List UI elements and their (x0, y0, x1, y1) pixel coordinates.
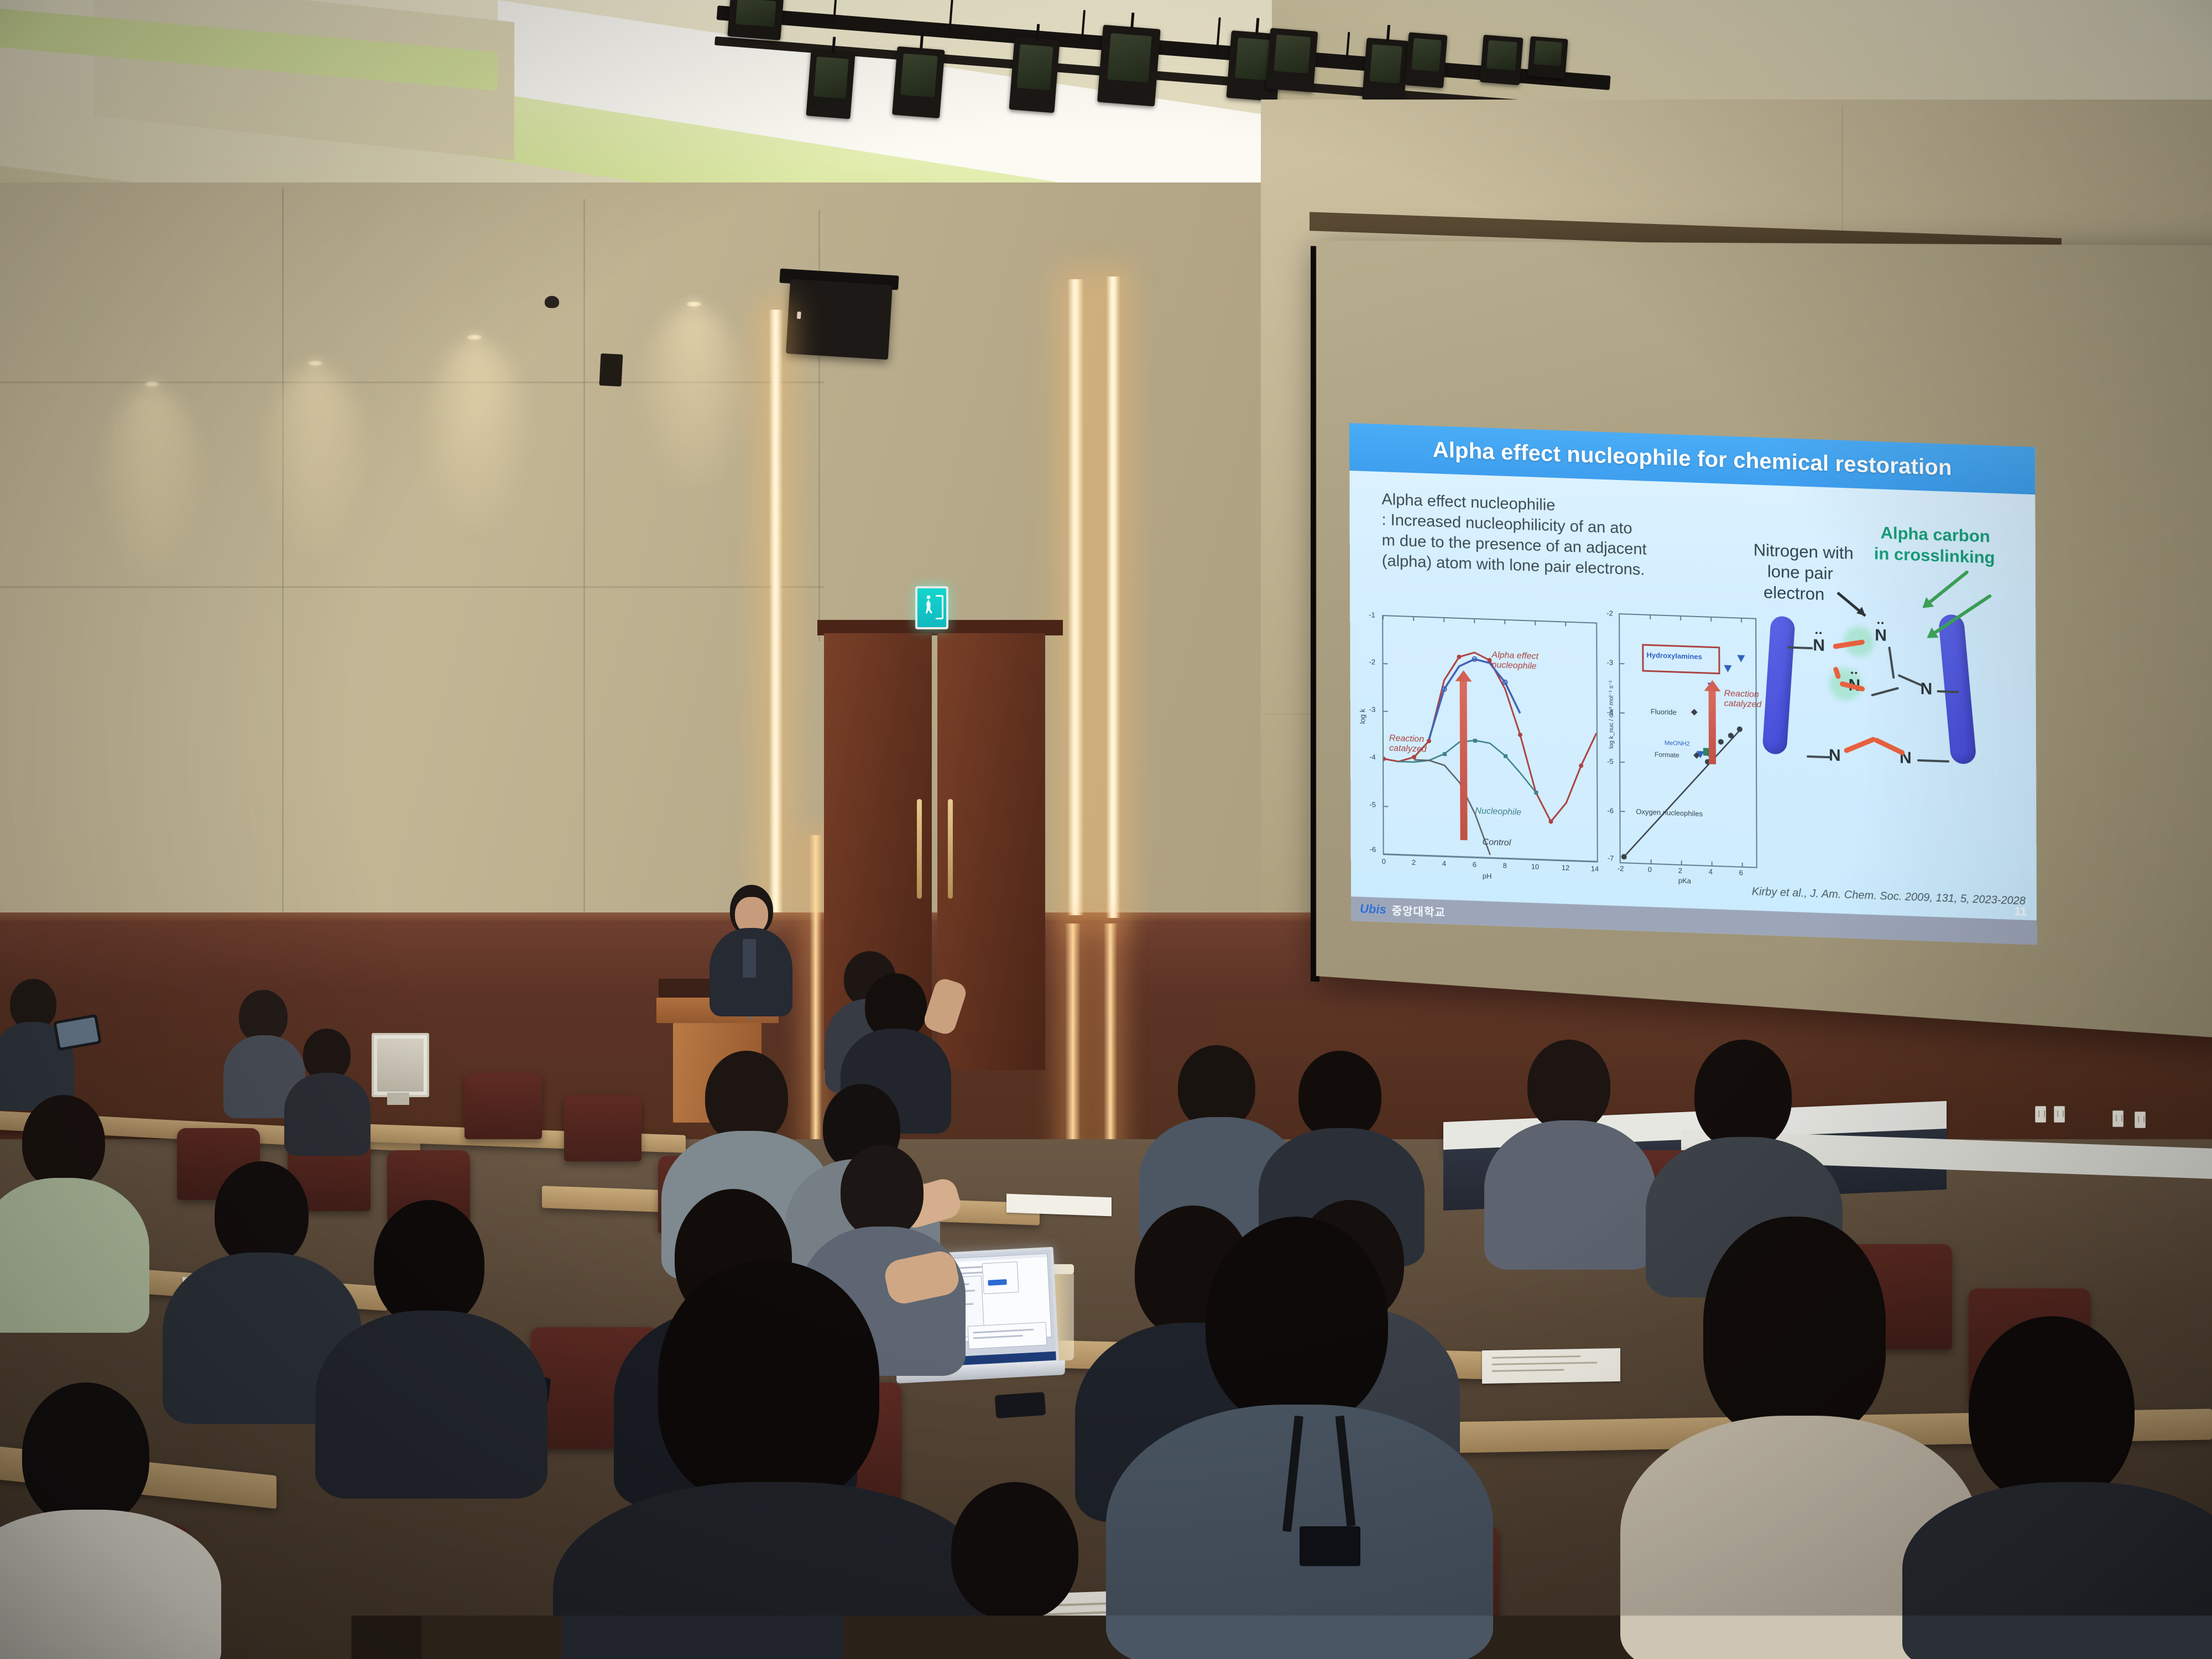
security-camera-icon (545, 296, 559, 308)
power-outlet[interactable] (2054, 1106, 2065, 1123)
university-logo: Ubis 중앙대학교 (1360, 901, 1446, 920)
stage-light-9 (1405, 32, 1447, 88)
chart2-ylabel: log k_nuc / dm³ mol⁻¹ s⁻¹ (1608, 680, 1615, 749)
chart1-annotation-alpha: Alpha effect nucleophile (1491, 650, 1558, 672)
chart2-ytick-0: -2 (1606, 609, 1613, 617)
logo-text: 중앙대학교 (1392, 902, 1446, 920)
attendee (1648, 1217, 1936, 1659)
attendee (0, 1383, 199, 1659)
attendee (1139, 1217, 1449, 1659)
attendee (1924, 1316, 2212, 1659)
chart2-annotation-meonh2: MeONH2 (1665, 740, 1690, 748)
chart1-xlabel: pH (1483, 872, 1492, 880)
chart1-ytick-4: -5 (1369, 800, 1376, 808)
attendee (337, 1200, 520, 1488)
chart2-xtick-4: 6 (1739, 869, 1743, 877)
attendee (907, 1482, 1117, 1659)
chair (564, 1095, 641, 1161)
chart1-xtick-3: 6 (1473, 860, 1477, 869)
chart1-ytick-1: -2 (1369, 658, 1375, 666)
atom-N-1: N (1813, 636, 1825, 655)
smartphone[interactable] (995, 1392, 1046, 1418)
power-outlet[interactable] (2035, 1106, 2046, 1123)
chart2-xtick-1: 0 (1648, 865, 1652, 874)
stage-light-2 (806, 49, 855, 119)
attendee (0, 1095, 133, 1327)
chart1-ytick-5: -6 (1370, 845, 1376, 853)
power-outlet[interactable] (2135, 1112, 2146, 1128)
slide-page-number: 11 (2015, 905, 2027, 919)
chart1-reaction-arrow (1460, 680, 1468, 840)
chart1-ytick-0: -1 (1369, 611, 1375, 619)
wall-panel-seam (583, 199, 585, 918)
attendee (288, 1029, 365, 1150)
attendee (0, 979, 66, 1112)
power-outlet[interactable] (2112, 1110, 2124, 1127)
chart2-xtick-0: -2 (1618, 864, 1624, 873)
atom-N-4: N (1920, 680, 1932, 699)
presentation-slide: Alpha effect nucleophile for chemical re… (1349, 423, 2037, 945)
logo-mark: Ubis (1360, 901, 1386, 917)
chart1-xtick-6: 12 (1562, 863, 1570, 872)
chart1-xtick-5: 10 (1531, 862, 1540, 871)
chart2-ytick-4: -6 (1607, 806, 1614, 815)
handout (1482, 1348, 1620, 1384)
chart2-xtick-3: 4 (1709, 868, 1713, 876)
stage-light-4 (1009, 36, 1060, 113)
chair (465, 1073, 542, 1139)
chart-bronsted: -2 -3 -4 -5 -6 -7 log k_nuc / dm³ mol⁻¹ … (1619, 613, 1757, 868)
downlight (145, 382, 159, 387)
molecule-diagram: •• N •• N •• N N N N (1762, 603, 2023, 855)
stage-light-3 (892, 46, 945, 118)
desk-monitor (372, 1033, 429, 1097)
atom-N-2: N (1875, 626, 1887, 645)
presenter (711, 885, 788, 1012)
laptop-dialog[interactable] (982, 1261, 1019, 1294)
chart2-xtick-2: 2 (1678, 867, 1682, 875)
chart1-annotation-nucleophile: Nucleophile (1475, 806, 1521, 818)
chart2-ytick-3: -5 (1607, 757, 1614, 765)
chart2-reaction-arrow (1709, 690, 1716, 764)
chart1-xtick-4: 8 (1503, 862, 1507, 870)
wall-light-strip-5 (1065, 924, 1081, 1161)
annotation-alpha-carbon-line1: Alpha carbon (1881, 523, 1990, 547)
annotation-nitrogen-line1: Nitrogen with (1754, 540, 1854, 564)
chart2-xlabel: pKa (1678, 877, 1691, 885)
wall-panel-seam (0, 586, 824, 588)
chart1-xtick-2: 4 (1442, 859, 1446, 868)
chart2-annotation-fluoride: Fluoride (1651, 707, 1677, 717)
chart-ph-profile: -1 -2 -3 -4 -5 -6 log k 0 2 4 6 8 10 12 … (1382, 615, 1598, 863)
stage-light-7 (1266, 28, 1318, 92)
door-handle-left[interactable] (917, 799, 922, 899)
chart1-annotation-reaction: Reaction catalyzed (1389, 734, 1444, 755)
stage-light-10 (1480, 35, 1524, 85)
slide-body-text: Alpha effect nucleophilie : Increased nu… (1381, 489, 1736, 584)
annotation-nitrogen-line2: lone pair (1767, 561, 1833, 584)
wall-light-strip-3 (1106, 276, 1120, 918)
door-handle-right[interactable] (948, 799, 953, 899)
chart1-xtick-1: 2 (1412, 858, 1416, 867)
attendee (597, 1261, 940, 1659)
chart2-annotation-formate: Formate (1655, 750, 1679, 759)
ceiling-speaker (786, 279, 893, 359)
exit-sign (915, 586, 948, 629)
lecture-hall-photo: Alpha effect nucleophile for chemical re… (0, 0, 2212, 1659)
stage-light-11 (1527, 36, 1568, 79)
chart1-xtick-7: 14 (1591, 864, 1599, 873)
chart2-ytick-5: -7 (1608, 854, 1614, 862)
downlight (467, 335, 482, 340)
chart1-ytick-3: -4 (1369, 753, 1376, 761)
attendee (1499, 1040, 1637, 1261)
polymer-chain-left (1762, 615, 1795, 755)
laptop-window-notes[interactable] (968, 1322, 1047, 1349)
chart1-xtick-0: 0 (1382, 857, 1386, 865)
running-man-exit-icon (925, 594, 934, 622)
annotation-nitrogen-line3: electron (1764, 582, 1824, 605)
handout (1006, 1194, 1112, 1217)
chart1-ylabel: log k (1358, 708, 1366, 724)
atom-N-5: N (1829, 746, 1841, 765)
wall-light-strip-2 (1067, 279, 1084, 915)
polymer-chain-right (1938, 614, 1976, 764)
wall-light-strip-6 (1103, 924, 1118, 1161)
projection-screen: Alpha effect nucleophile for chemical re… (1316, 241, 2212, 976)
downlight (308, 361, 322, 366)
downlight (687, 301, 701, 307)
chart1-ytick-2: -3 (1369, 705, 1376, 713)
attendee (182, 1161, 337, 1416)
wall-speaker (599, 353, 623, 387)
annotation-alpha-carbon-line2: in crosslinking (1874, 543, 1995, 568)
monitor-stand (387, 1093, 409, 1105)
chart1-annotation-control: Control (1483, 837, 1511, 848)
chart2-ytick-1: -3 (1606, 658, 1613, 666)
wall-panel-seam (282, 188, 284, 918)
stage-light-1 (727, 0, 784, 40)
wall-light-strip-1 (769, 310, 783, 912)
stage-light-5 (1097, 25, 1161, 107)
stage-light-8 (1362, 38, 1409, 103)
